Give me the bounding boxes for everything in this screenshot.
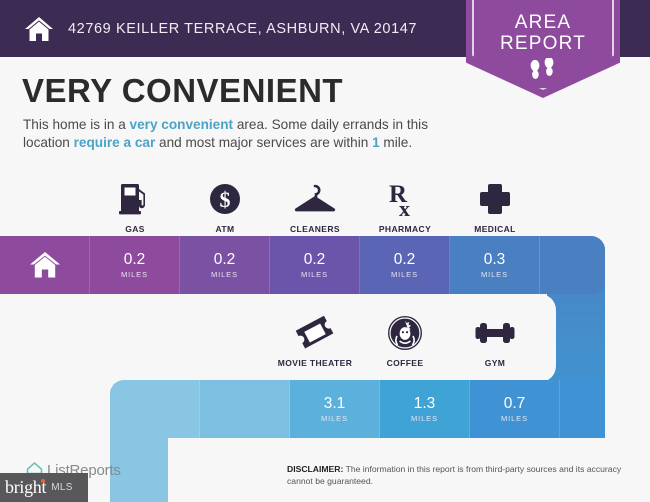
- bar2-lead-b: [200, 380, 290, 438]
- page-title: VERY CONVENIENT: [22, 72, 343, 110]
- distance-unit: MILES: [501, 414, 528, 423]
- home-icon: [29, 250, 61, 280]
- amenity-icon-row-1: GAS $ ATM CLEANERS R: [0, 172, 650, 234]
- bar1-distance-medical: 0.3 MILES: [450, 236, 540, 294]
- amenity-label: ATM: [216, 224, 235, 234]
- clothes-hanger-icon: [292, 178, 338, 220]
- distance-value: 3.1: [324, 396, 346, 412]
- bar1-tail: [540, 236, 605, 294]
- summary-highlight-1: very convenient: [130, 117, 234, 132]
- summary-highlight-3: 1: [372, 135, 380, 150]
- amenity-label: GAS: [125, 224, 145, 234]
- home-icon: [22, 12, 56, 46]
- amenity-label: GYM: [485, 358, 506, 368]
- distance-unit: MILES: [211, 270, 238, 279]
- rx-pharmacy-icon: R x: [386, 178, 424, 220]
- bar1-distance-atm: 0.2 MILES: [180, 236, 270, 294]
- bar2-lead-a: [110, 380, 200, 438]
- amenity-icon-row-2: MOVIE THEATER COFFEE: [0, 306, 650, 368]
- distance-value: 0.7: [504, 396, 526, 412]
- amenity-pharmacy: R x PHARMACY: [360, 172, 450, 234]
- bright-mls-sub: MLS: [51, 482, 72, 493]
- distance-bar-row-1: 0.2 MILES 0.2 MILES 0.2 MILES 0.2 MILES …: [0, 236, 605, 294]
- distance-value: 1.3: [414, 396, 436, 412]
- property-address: 42769 KEILLER TERRACE, ASHBURN, VA 20147: [68, 21, 417, 37]
- summary-text-3: and most major services are within: [155, 135, 372, 150]
- area-report-page: 42769 KEILLER TERRACE, ASHBURN, VA 20147…: [0, 0, 650, 502]
- amenity-gym: GYM: [450, 306, 540, 368]
- distance-value: 0.2: [394, 252, 416, 268]
- movie-ticket-icon: [295, 312, 335, 354]
- summary-description: This home is in a very convenient area. …: [23, 116, 463, 152]
- distance-unit: MILES: [301, 270, 328, 279]
- distance-value: 0.2: [214, 252, 236, 268]
- coffee-siren-icon: [386, 312, 424, 354]
- bar1-home-segment: [0, 236, 90, 294]
- distance-bar-row-2: 3.1 MILES 1.3 MILES 0.7 MILES: [110, 380, 605, 438]
- footprints-icon: [466, 58, 620, 89]
- dollar-circle-icon: $: [207, 178, 243, 220]
- amenity-coffee: COFFEE: [360, 306, 450, 368]
- amenity-medical: MEDICAL: [450, 172, 540, 234]
- amenity-label: MEDICAL: [474, 224, 516, 234]
- svg-text:$: $: [220, 187, 231, 212]
- summary-highlight-2: require a car: [74, 135, 156, 150]
- badge-line-2: REPORT: [466, 33, 620, 54]
- summary-text-1: This home is in a: [23, 117, 130, 132]
- bar1-distance-gas: 0.2 MILES: [90, 236, 180, 294]
- amenity-label: COFFEE: [387, 358, 424, 368]
- distance-value: 0.2: [304, 252, 326, 268]
- summary-text-4: mile.: [380, 135, 412, 150]
- area-report-badge-text: AREA REPORT: [466, 12, 620, 54]
- bar2-distance-movie-theater: 3.1 MILES: [290, 380, 380, 438]
- gas-pump-icon: [117, 178, 153, 220]
- amenity-label: CLEANERS: [290, 224, 340, 234]
- amenity-cleaners: CLEANERS: [270, 172, 360, 234]
- distance-unit: MILES: [321, 414, 348, 423]
- bright-mls-brand: bright: [5, 477, 46, 497]
- amenity-label: MOVIE THEATER: [278, 358, 352, 368]
- bar1-distance-pharmacy: 0.2 MILES: [360, 236, 450, 294]
- bar2-distance-coffee: 1.3 MILES: [380, 380, 470, 438]
- amenity-atm: $ ATM: [180, 172, 270, 234]
- distance-value: 0.3: [484, 252, 506, 268]
- bright-mls-wordmark: bright: [5, 477, 46, 498]
- badge-line-1: AREA: [466, 12, 620, 33]
- dumbbell-icon: [473, 312, 517, 354]
- distance-unit: MILES: [411, 414, 438, 423]
- bar2-tail: [560, 380, 605, 438]
- medical-cross-icon: [478, 178, 512, 220]
- distance-unit: MILES: [121, 270, 148, 279]
- amenity-label: PHARMACY: [379, 224, 431, 234]
- disclaimer-text: DISCLAIMER: The information in this repo…: [287, 464, 627, 487]
- bar1-distance-cleaners: 0.2 MILES: [270, 236, 360, 294]
- distance-unit: MILES: [391, 270, 418, 279]
- disclaimer-label: DISCLAIMER:: [287, 464, 343, 474]
- bar2-distance-gym: 0.7 MILES: [470, 380, 560, 438]
- svg-text:x: x: [399, 196, 410, 219]
- amenity-gas: GAS: [90, 172, 180, 234]
- amenity-movie-theater: MOVIE THEATER: [270, 306, 360, 368]
- bright-mls-badge: bright MLS: [0, 473, 88, 502]
- distance-unit: MILES: [481, 270, 508, 279]
- distance-value: 0.2: [124, 252, 146, 268]
